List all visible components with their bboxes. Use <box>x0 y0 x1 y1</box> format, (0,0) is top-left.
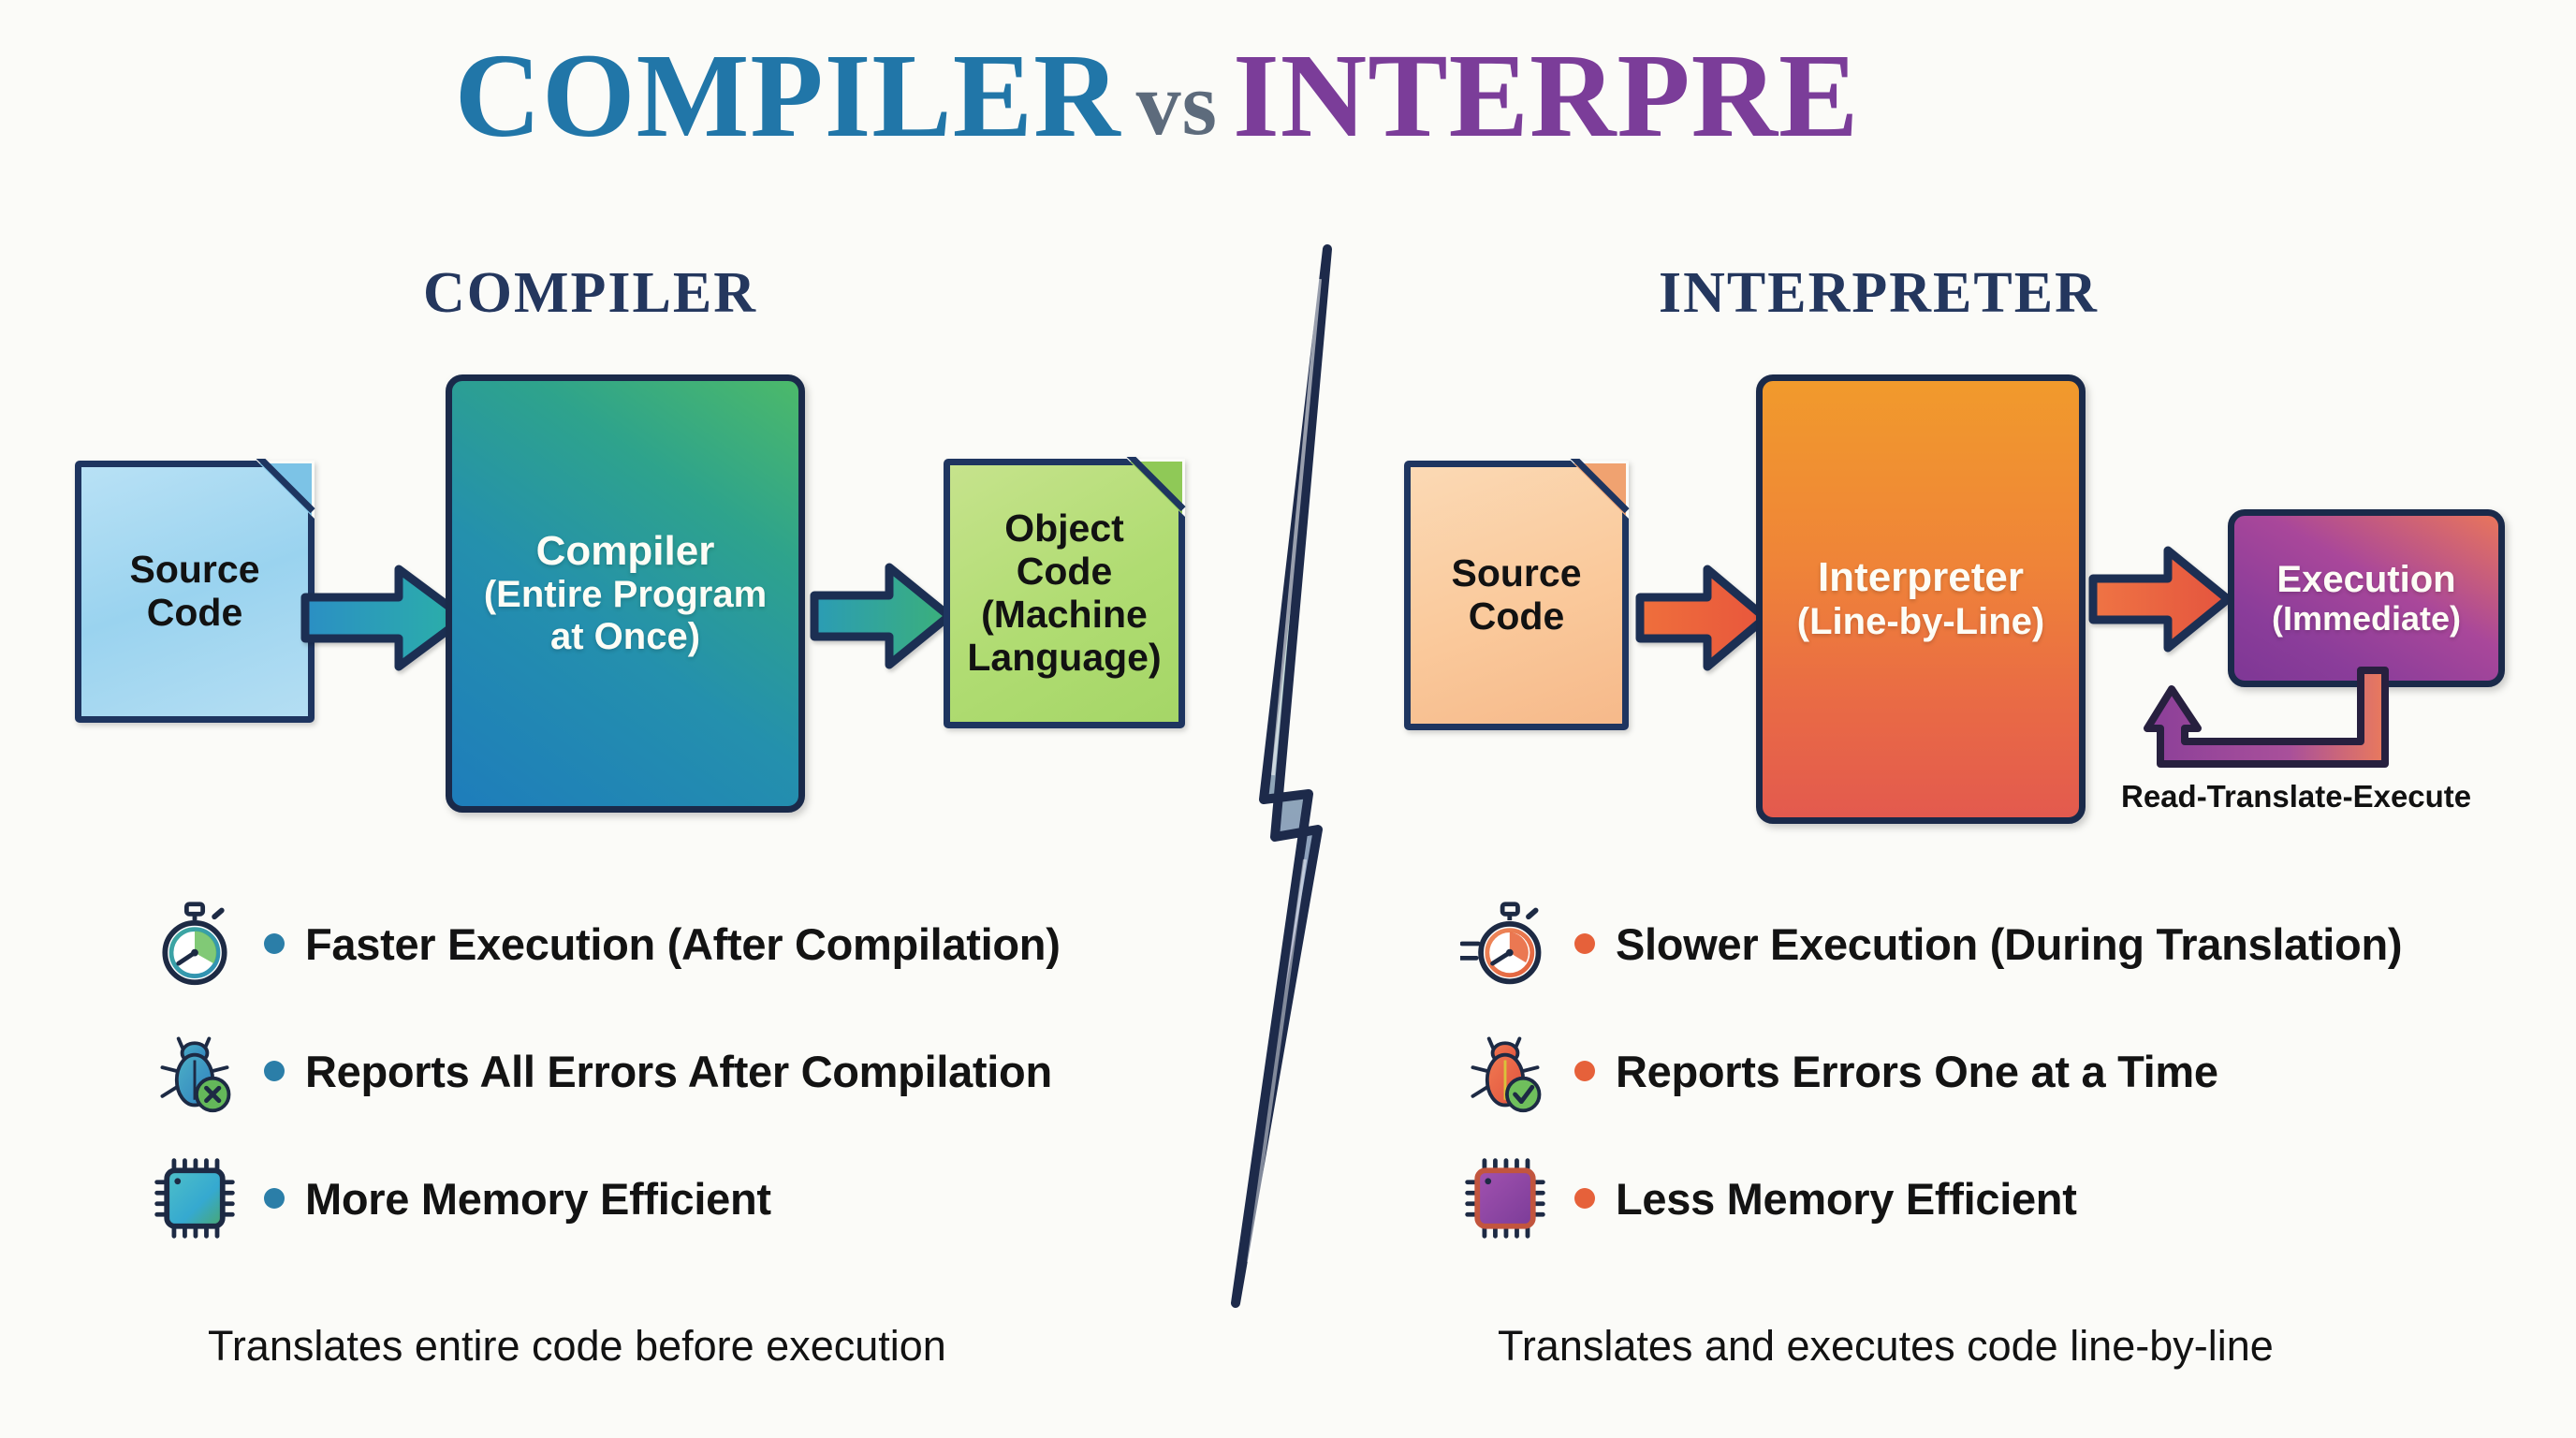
page-fold-inner-icon <box>1573 463 1626 516</box>
compiler-box-sub-line1: (Entire Program <box>484 574 767 616</box>
compiler-process-box: Compiler (Entire Program at Once) <box>446 374 805 813</box>
feature-label: More Memory Efficient <box>305 1173 771 1225</box>
feature-row: More Memory Efficient <box>150 1135 1061 1262</box>
arrow-source-to-interpreter <box>1632 552 1773 683</box>
compiler-feature-list: Faster Execution (After Compilation) <box>150 880 1061 1262</box>
feature-label: Reports Errors One at a Time <box>1616 1046 2218 1097</box>
feature-label: Faster Execution (After Compilation) <box>305 918 1061 970</box>
bullet-dot <box>264 1061 285 1081</box>
source-code-line1: Source <box>130 549 260 592</box>
title-interpreter-word: INTERPRE <box>1233 29 1859 162</box>
bullet-dot <box>1574 1061 1595 1081</box>
title-vs-word: vs <box>1121 53 1233 154</box>
object-code-line3: (Machine <box>950 594 1178 637</box>
interpreter-box-title: Interpreter <box>1818 555 2024 600</box>
title-compiler-word: COMPILER <box>455 29 1121 162</box>
infographic-canvas: COMPILERvsINTERPRE COMPILER INTERPRETER … <box>0 0 2576 1438</box>
source-code-line2: Code <box>130 592 260 635</box>
compiler-box-sub-line2: at Once) <box>550 616 700 658</box>
source-code-right-line1: Source <box>1452 552 1582 595</box>
interpreter-feature-list: Slower Execution (During Translation) <box>1460 880 2402 1262</box>
feature-label: Slower Execution (During Translation) <box>1616 918 2402 970</box>
stopwatch-motion-icon <box>1460 899 1550 989</box>
object-code-line2: Code <box>950 550 1178 594</box>
read-translate-execute-loop-arrow <box>2134 661 2415 783</box>
arrow-interpreter-to-execution <box>2087 534 2237 665</box>
feature-row: Reports All Errors After Compilation <box>150 1007 1061 1135</box>
compiler-summary-caption: Translates entire code before execution <box>208 1322 946 1371</box>
bug-check-icon <box>1460 1026 1550 1116</box>
arrow-compiler-to-object-code <box>807 550 957 682</box>
section-heading-interpreter: INTERPRETER <box>1659 260 2099 327</box>
bug-error-icon <box>150 1026 240 1116</box>
chip-icon <box>150 1153 240 1243</box>
loop-label: Read-Translate-Execute <box>2121 779 2471 814</box>
source-code-document-left: Source Code <box>75 461 315 723</box>
interpreter-process-box: Interpreter (Line-by-Line) <box>1756 374 2086 824</box>
section-heading-compiler: COMPILER <box>423 260 757 327</box>
bullet-dot <box>264 1188 285 1209</box>
feature-row: Slower Execution (During Translation) <box>1460 880 2402 1007</box>
lightning-bolt-divider <box>1207 242 1395 1311</box>
page-fold-inner-icon <box>1130 462 1182 514</box>
object-code-line1: Object <box>950 507 1178 550</box>
compiler-box-title: Compiler <box>536 529 715 574</box>
object-code-line4: Language) <box>950 637 1178 680</box>
stopwatch-icon <box>150 899 240 989</box>
page-fold-inner-icon <box>259 463 312 516</box>
feature-row: Reports Errors One at a Time <box>1460 1007 2402 1135</box>
execution-box-sub-line1: (Immediate) <box>2272 600 2461 638</box>
source-code-document-right: Source Code <box>1404 461 1629 730</box>
bullet-dot <box>1574 933 1595 954</box>
chip-purple-icon <box>1460 1153 1550 1243</box>
interpreter-summary-caption: Translates and executes code line-by-lin… <box>1498 1322 2274 1371</box>
feature-row: Faster Execution (After Compilation) <box>150 880 1061 1007</box>
bullet-dot <box>1574 1188 1595 1209</box>
page-title: COMPILERvsINTERPRE <box>0 36 2576 155</box>
source-code-right-line2: Code <box>1452 595 1582 638</box>
interpreter-box-sub-line1: (Line-by-Line) <box>1797 601 2044 643</box>
bullet-dot <box>264 933 285 954</box>
feature-label: Reports All Errors After Compilation <box>305 1046 1052 1097</box>
feature-label: Less Memory Efficient <box>1616 1173 2077 1225</box>
execution-box-title: Execution <box>2276 559 2455 600</box>
object-code-document: Object Code (Machine Language) <box>944 459 1185 728</box>
feature-row: Less Memory Efficient <box>1460 1135 2402 1262</box>
